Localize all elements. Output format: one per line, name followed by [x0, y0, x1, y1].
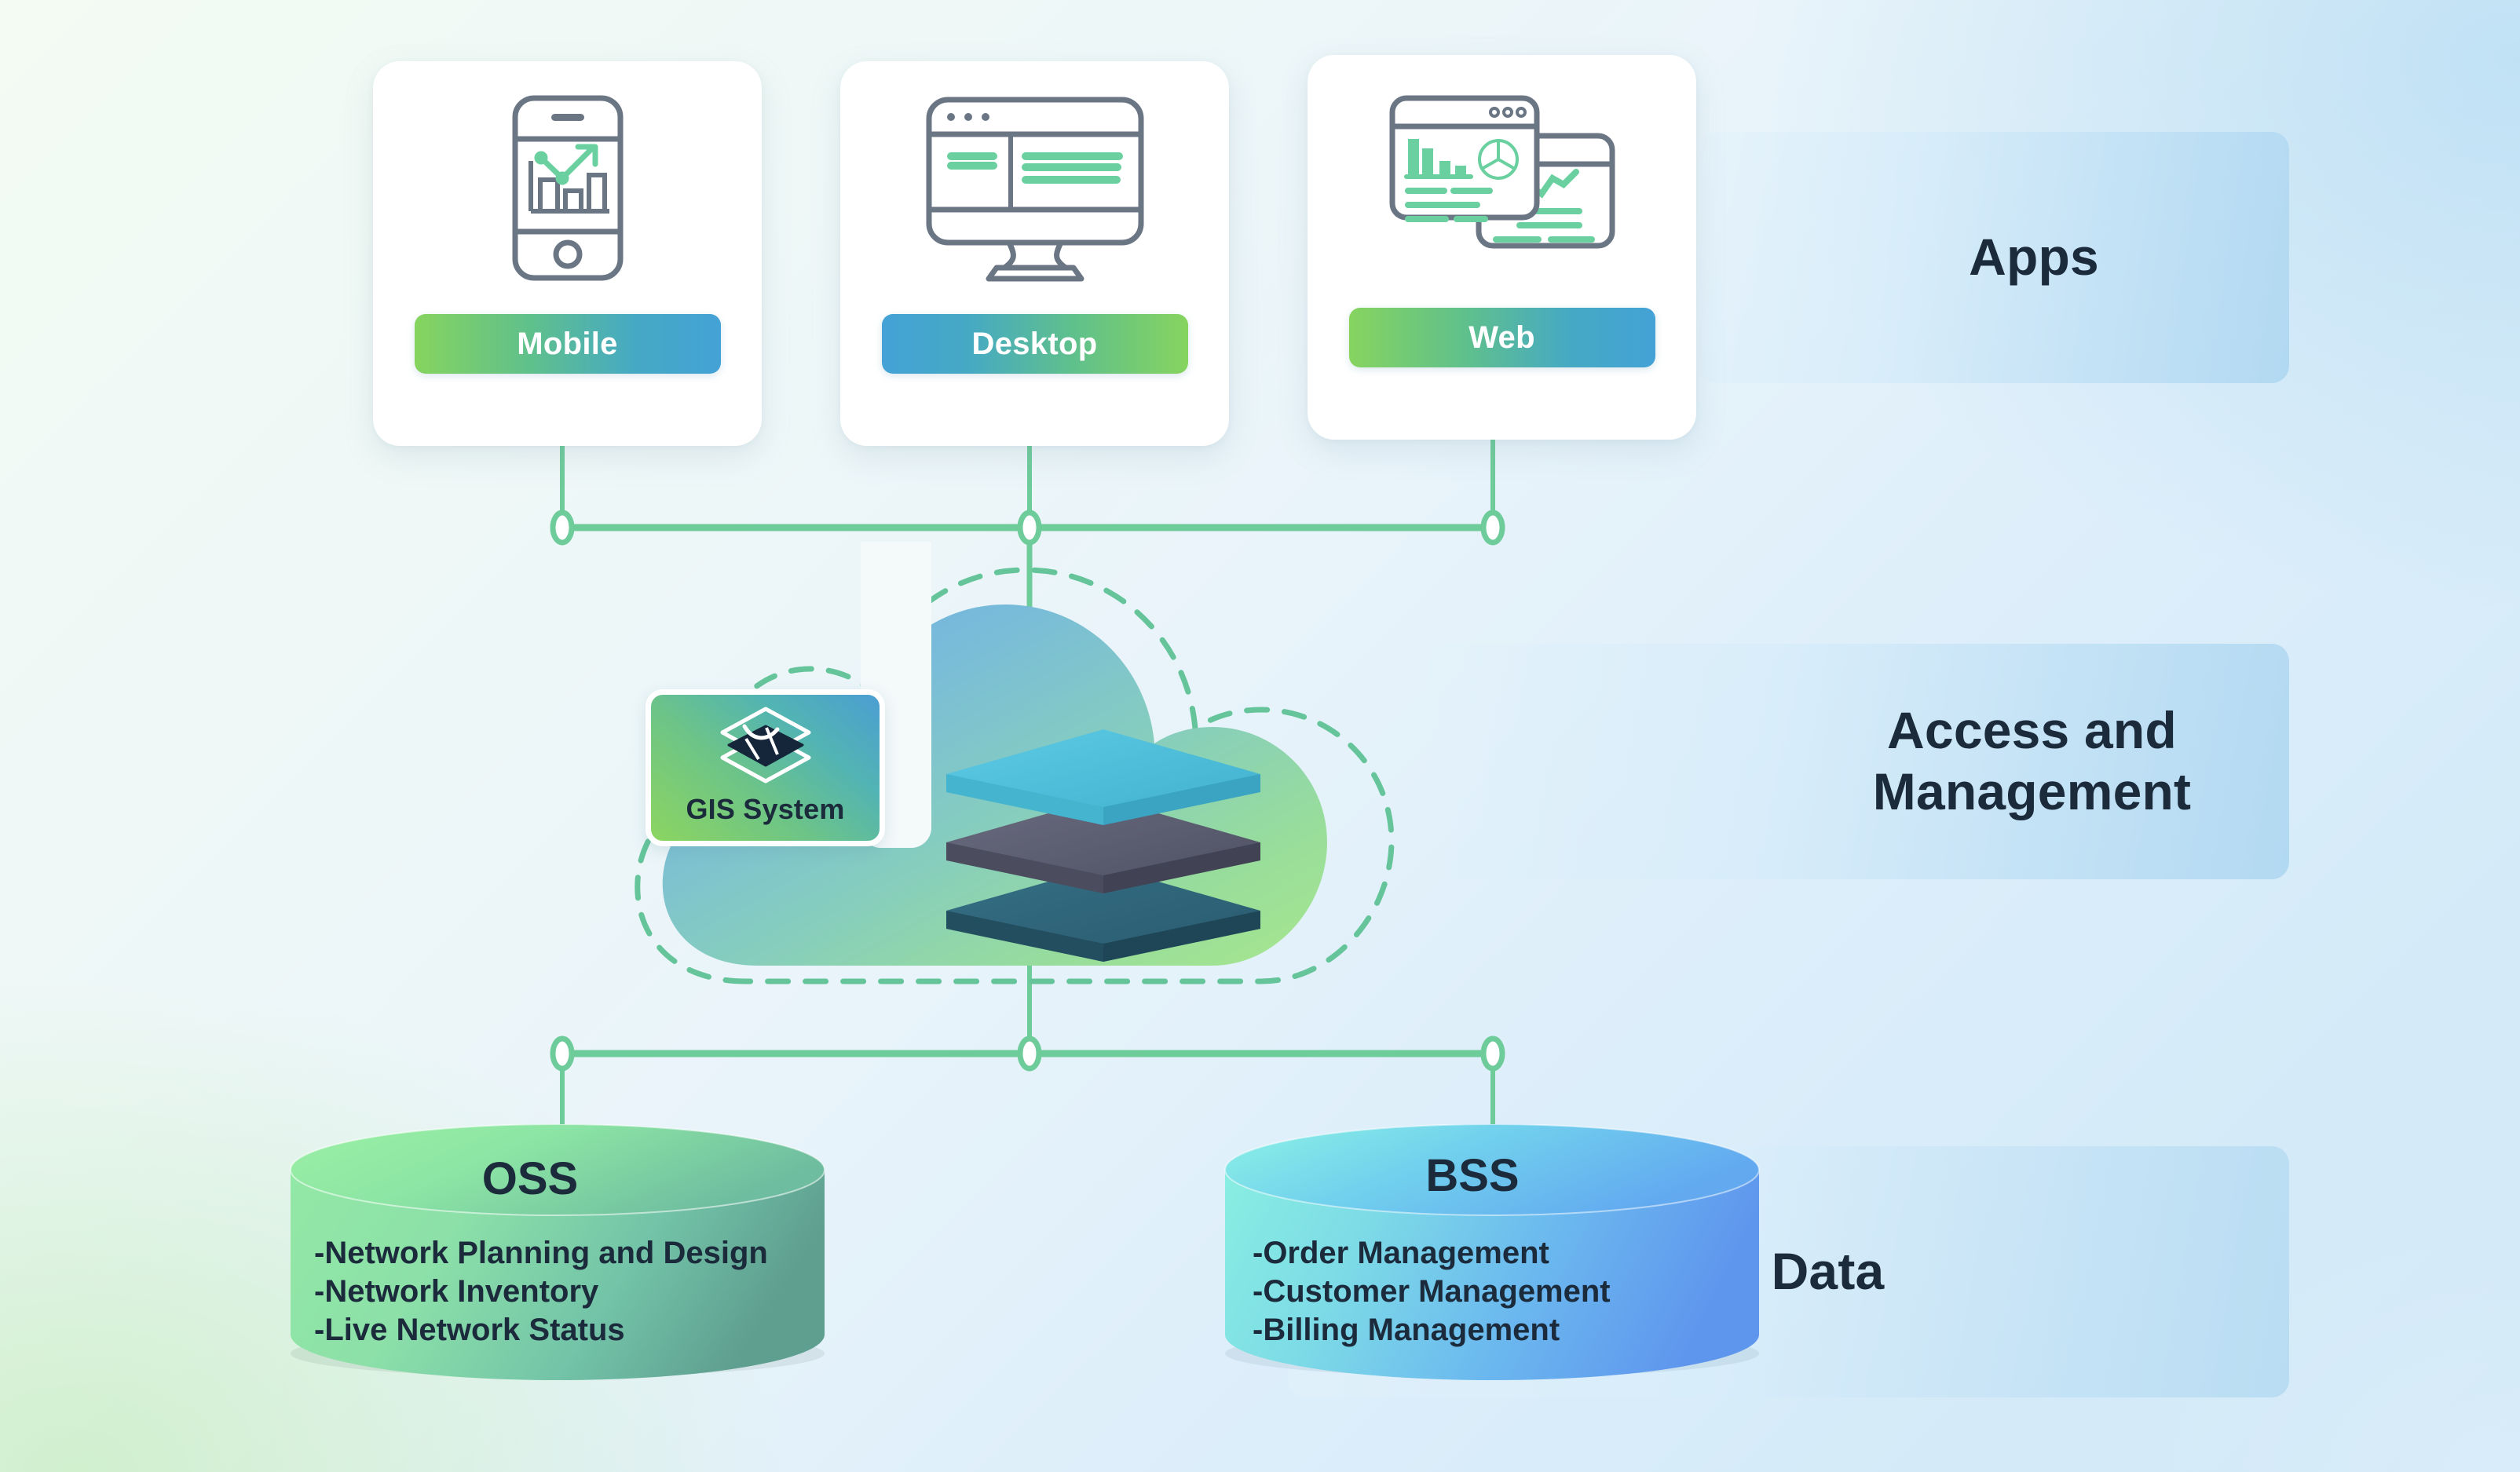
node-top-center [1020, 513, 1039, 542]
node-top-right [1483, 513, 1502, 542]
layer-top [946, 729, 1260, 825]
app-button-mobile[interactable]: Mobile [415, 314, 721, 374]
app-button-desktop[interactable]: Desktop [882, 314, 1188, 374]
gis-system-tile[interactable]: GIS System [646, 689, 885, 846]
app-button-desktop-label: Desktop [972, 327, 1098, 362]
desktop-monitor-icon [840, 61, 1229, 314]
app-button-mobile-label: Mobile [517, 327, 617, 362]
band-apps-label: Apps [1969, 227, 2099, 288]
three-layers-icon [938, 726, 1268, 966]
app-card-web[interactable]: Web [1308, 55, 1696, 440]
data-store-oss[interactable]: OSS -Network Planning and Design -Networ… [259, 1124, 856, 1383]
data-store-bss[interactable]: BSS -Order Management -Customer Manageme… [1194, 1124, 1790, 1383]
map-layers-icon [715, 703, 817, 791]
data-store-bss-title: BSS [1174, 1149, 1771, 1202]
app-card-desktop[interactable]: Desktop [840, 61, 1229, 446]
data-store-oss-items: -Network Planning and Design -Network In… [314, 1234, 768, 1349]
data-store-bss-items: -Order Management -Customer Management -… [1253, 1234, 1611, 1349]
app-card-mobile[interactable]: Mobile [373, 61, 762, 446]
node-top-left [553, 513, 572, 542]
node-bottom-left [553, 1039, 572, 1068]
app-button-web[interactable]: Web [1349, 308, 1655, 367]
gis-system-label: GIS System [686, 793, 844, 826]
node-bottom-right [1483, 1039, 1502, 1068]
band-access-label: Access and Management [1873, 700, 2191, 823]
smartphone-chart-icon [373, 61, 762, 314]
data-store-oss-title: OSS [232, 1152, 828, 1205]
app-button-web-label: Web [1468, 320, 1535, 356]
diagram-stage: Apps Access and Management Data [0, 0, 2520, 1472]
browser-windows-icon [1308, 55, 1696, 308]
node-bottom-center [1020, 1039, 1039, 1068]
band-access-and-management: Access and Management [1429, 644, 2289, 879]
band-apps: Apps [1700, 132, 2289, 383]
